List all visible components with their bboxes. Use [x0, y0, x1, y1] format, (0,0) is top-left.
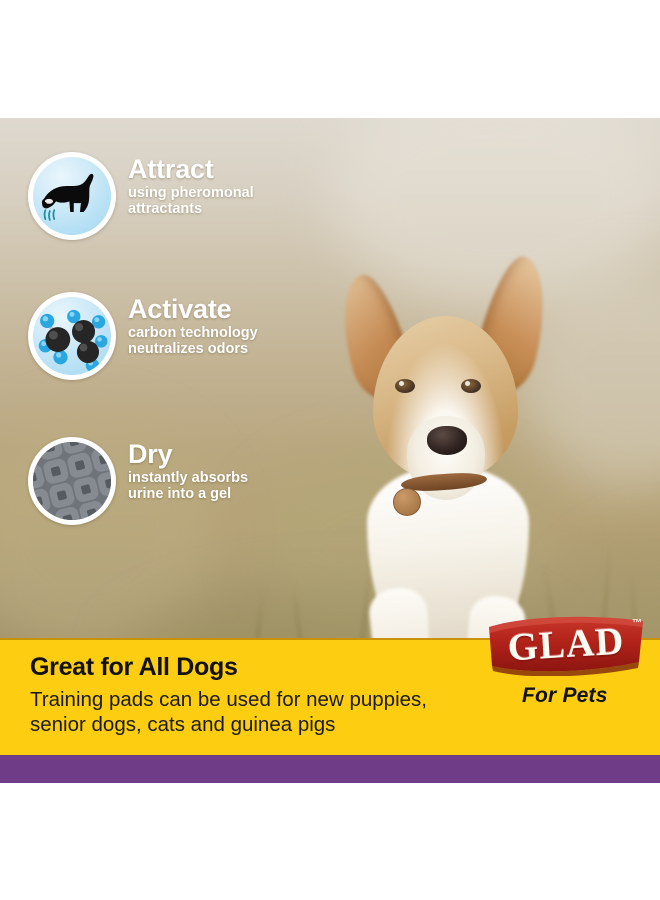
dog-sniffing-icon [28, 152, 116, 240]
dog-eye-highlight [465, 381, 470, 386]
purple-accent-bar [0, 755, 660, 783]
glad-logo: GLAD ™ [486, 614, 646, 680]
feature-subtitle-line: using pheromonal [128, 185, 254, 202]
dog-nose [427, 426, 467, 455]
dog-photo-subject [315, 238, 615, 638]
glad-logo-banner-shape [486, 614, 646, 676]
feature-subtitle: using pheromonal attractants [128, 185, 254, 219]
carbon-molecule-icon [28, 292, 116, 380]
bottom-white-band [0, 783, 660, 900]
dog-left-eye [395, 379, 415, 393]
feature-subtitle-line: carbon technology [128, 325, 258, 342]
dog-sniffing-icon-art [33, 157, 111, 235]
feature-attract: Attract using pheromonal attractants [28, 152, 254, 240]
quilted-pad-texture-icon-art [33, 442, 111, 520]
feature-activate: Activate carbon technology neutralizes o… [28, 292, 258, 380]
feature-subtitle-line: instantly absorbs [128, 470, 248, 487]
carbon-molecule-icon-art [33, 297, 111, 375]
feature-title: Activate [128, 296, 258, 324]
dog-right-eye [461, 379, 481, 393]
dog-eye-highlight [399, 381, 404, 386]
feature-subtitle-line: urine into a gel [128, 486, 248, 503]
feature-title: Dry [128, 441, 248, 469]
banner-body: Training pads can be used for new puppie… [30, 687, 500, 737]
feature-subtitle-line: attractants [128, 201, 254, 218]
feature-subtitle: carbon technology neutralizes odors [128, 325, 258, 359]
quilted-pad-texture-icon [28, 437, 116, 525]
banner-body-line: senior dogs, cats and guinea pigs [30, 712, 500, 737]
trademark-symbol: ™ [632, 618, 642, 629]
top-white-band [0, 0, 660, 118]
feature-title: Attract [128, 156, 254, 184]
feature-dry: Dry instantly absorbs urine into a gel [28, 437, 248, 525]
for-pets-tagline: For Pets [522, 684, 608, 708]
feature-dry-text: Dry instantly absorbs urine into a gel [128, 437, 248, 503]
feature-subtitle: instantly absorbs urine into a gel [128, 470, 248, 504]
banner-headline: Great for All Dogs [30, 653, 238, 682]
banner-body-line: Training pads can be used for new puppie… [30, 687, 500, 712]
hero-photo: Attract using pheromonal attractants [0, 118, 660, 638]
feature-subtitle-line: neutralizes odors [128, 341, 258, 358]
dog-collar-tag [393, 488, 421, 516]
product-feature-card: Attract using pheromonal attractants [0, 0, 660, 900]
feature-attract-text: Attract using pheromonal attractants [128, 152, 254, 218]
feature-activate-text: Activate carbon technology neutralizes o… [128, 292, 258, 358]
